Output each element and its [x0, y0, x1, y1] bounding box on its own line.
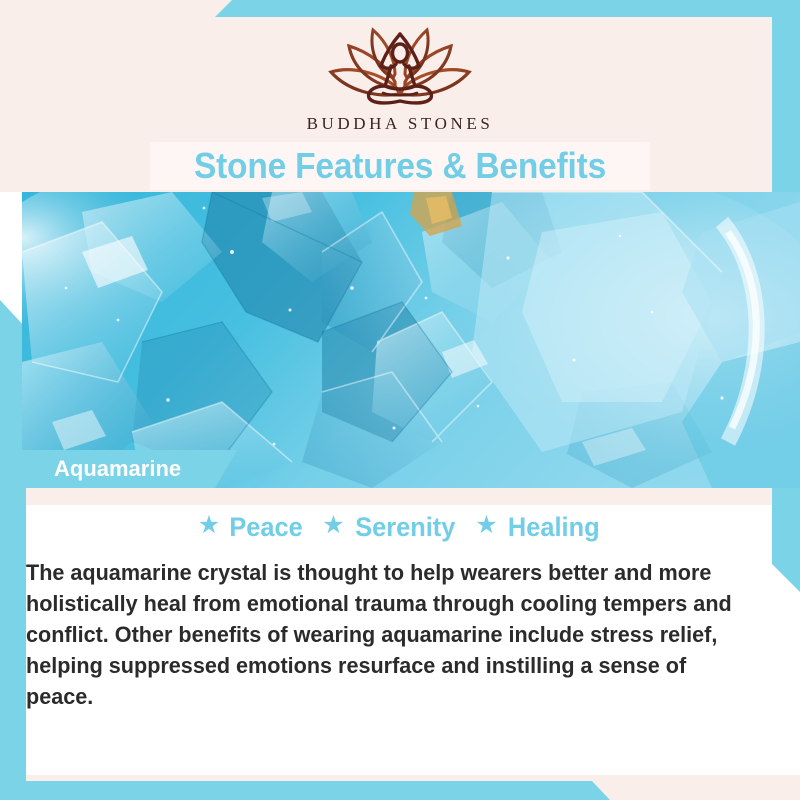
keyword-item-healing: ★ Healing: [475, 512, 602, 543]
brand-name: BUDDHA STONES: [0, 114, 800, 134]
stone-name-label: Aquamarine: [54, 450, 181, 488]
aquamarine-photo: [22, 192, 800, 488]
stone-features-infographic: BUDDHA STONES Stone Features & Benefits: [0, 0, 800, 800]
brand-logo: BUDDHA STONES: [0, 22, 800, 134]
page-title: Stone Features & Benefits: [28, 142, 772, 190]
keyword-label: Serenity: [355, 512, 455, 543]
crystal-cluster-illustration: [22, 192, 800, 488]
stone-description: The aquamarine crystal is thought to hel…: [26, 557, 744, 712]
star-icon: ★: [198, 513, 220, 538]
lotus-meditation-figure-icon: [325, 22, 475, 110]
keyword-item-peace: ★ Peace: [198, 512, 306, 543]
keyword-item-serenity: ★ Serenity: [322, 512, 458, 543]
keyword-label: Peace: [230, 512, 303, 543]
keyword-list: ★ Peace ★ Serenity ★ Healing: [0, 512, 800, 543]
star-icon: ★: [322, 513, 344, 538]
star-icon: ★: [475, 513, 497, 538]
keyword-label: Healing: [508, 512, 600, 543]
